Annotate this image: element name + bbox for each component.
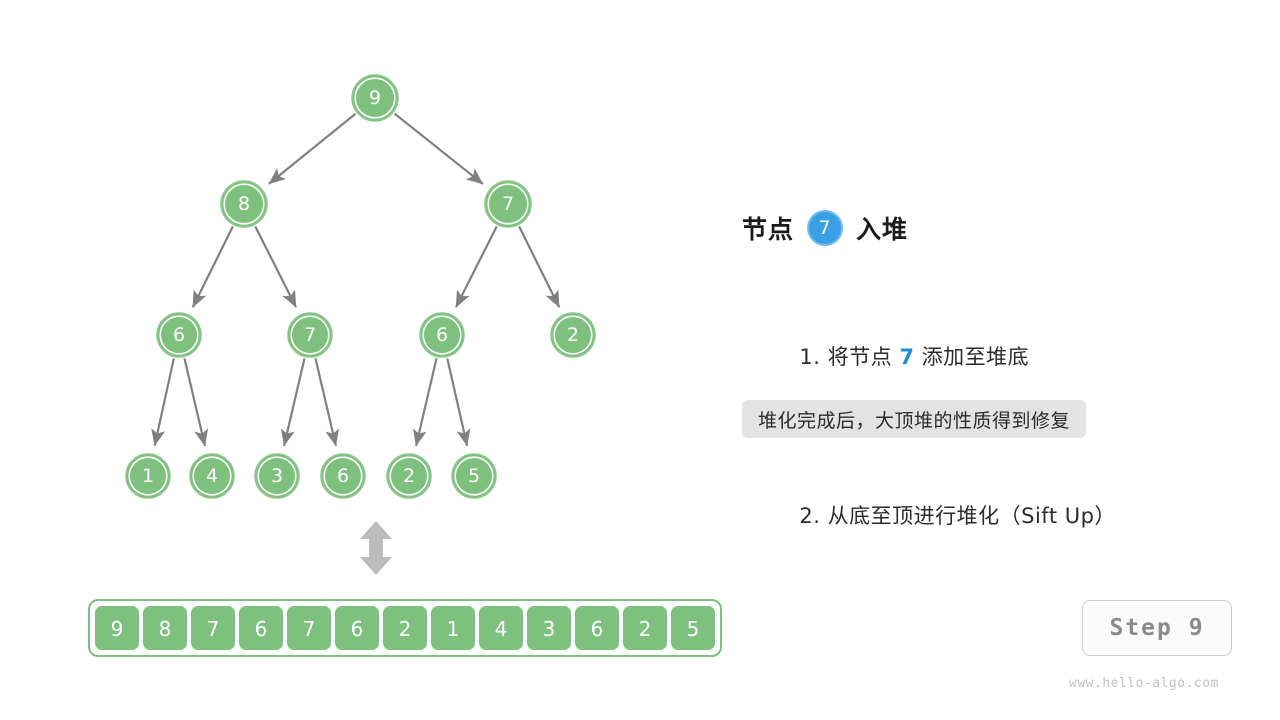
tree-edge [269, 114, 356, 184]
tree-node-value: 6 [436, 324, 448, 346]
array-cell-value: 1 [447, 617, 460, 641]
tree-edge [519, 226, 559, 307]
tree-node[interactable]: 5 [452, 454, 496, 498]
note-box: 堆化完成后，大顶堆的性质得到修复 [742, 400, 1086, 438]
tree-edges [155, 114, 560, 446]
tree-edge [255, 226, 296, 307]
tree-node-value: 1 [142, 465, 154, 487]
tree-node-value: 3 [271, 465, 283, 487]
watermark: www.hello-algo.com [1069, 676, 1219, 691]
diagram-canvas: 9876762143625 9876762143625 节点 7 入堆 1. 将… [0, 0, 1280, 720]
array-cell[interactable]: 2 [622, 605, 668, 651]
step-1-highlight: 7 [899, 345, 914, 369]
step-badge: Step 9 [1082, 600, 1232, 656]
array-cell[interactable]: 7 [190, 605, 236, 651]
tree-edge [416, 358, 436, 445]
panel-title-suffix: 入堆 [856, 210, 908, 246]
tree-edge [284, 358, 304, 445]
double-vertical-arrow-shape [360, 521, 392, 575]
array-cell[interactable]: 4 [478, 605, 524, 651]
step-item-2: 2. 从底至顶进行堆化（Sift Up） [742, 437, 1202, 596]
array-cell-value: 6 [591, 617, 604, 641]
step-2-index: 2. [799, 504, 820, 528]
tree-node[interactable]: 7 [485, 181, 531, 227]
array-cell[interactable]: 9 [94, 605, 140, 651]
tree-node-value: 2 [403, 465, 415, 487]
tree-node[interactable]: 8 [221, 181, 267, 227]
tree-node[interactable]: 6 [321, 454, 365, 498]
array-cell-value: 7 [207, 617, 220, 641]
array-cell-value: 5 [687, 617, 700, 641]
tree-node-value: 5 [468, 465, 480, 487]
array-cell-value: 8 [159, 617, 172, 641]
tree-node-value: 6 [173, 324, 185, 346]
tree-node[interactable]: 6 [420, 313, 464, 357]
tree-nodes: 9876762143625 [126, 75, 595, 498]
step-1-pre: 将节点 [820, 345, 899, 369]
tree-node-value: 4 [206, 465, 218, 487]
array-cell[interactable]: 6 [238, 605, 284, 651]
tree-node[interactable]: 9 [352, 75, 398, 121]
array-cell-value: 6 [255, 617, 268, 641]
double-vertical-arrow-icon [360, 521, 392, 575]
array-cell[interactable]: 5 [670, 605, 716, 651]
tree-edge [395, 114, 483, 184]
array-cell-value: 7 [303, 617, 316, 641]
array-cell[interactable]: 6 [334, 605, 380, 651]
tree-edge [447, 358, 467, 445]
step-1-index: 1. [799, 345, 820, 369]
step-1-post: 添加至堆底 [914, 345, 1029, 369]
array-cell[interactable]: 3 [526, 605, 572, 651]
array-cell[interactable]: 2 [382, 605, 428, 651]
array-cell-value: 2 [399, 617, 412, 641]
array-cell-value: 2 [639, 617, 652, 641]
array-cell-value: 3 [543, 617, 556, 641]
array-cell[interactable]: 8 [142, 605, 188, 651]
tree-node-value: 2 [567, 324, 579, 346]
tree-node[interactable]: 3 [255, 454, 299, 498]
tree-node-value: 6 [337, 465, 349, 487]
tree-node[interactable]: 4 [190, 454, 234, 498]
tree-node-value: 7 [502, 193, 514, 215]
array-cell-value: 6 [351, 617, 364, 641]
step-2-pre: 从底至顶进行堆化（Sift Up） [820, 504, 1115, 528]
tree-node[interactable]: 6 [157, 313, 201, 357]
tree-edge [315, 358, 335, 445]
array-cell[interactable]: 6 [574, 605, 620, 651]
note-text: 堆化完成后，大顶堆的性质得到修复 [758, 406, 1070, 433]
array-representation: 9876762143625 [89, 600, 721, 656]
tree-node[interactable]: 2 [387, 454, 431, 498]
array-cell[interactable]: 7 [286, 605, 332, 651]
title-node-badge: 7 [807, 210, 843, 246]
tree-node-value: 7 [304, 324, 316, 346]
tree-node-value: 9 [369, 87, 381, 109]
array-cell[interactable]: 1 [430, 605, 476, 651]
tree-node[interactable]: 2 [551, 313, 595, 357]
tree-node[interactable]: 7 [288, 313, 332, 357]
tree-node[interactable]: 1 [126, 454, 170, 498]
panel-title: 节点 7 入堆 [742, 205, 1202, 251]
tree-edge [193, 226, 233, 307]
step-badge-label: Step 9 [1109, 615, 1204, 641]
tree-node-value: 8 [238, 193, 250, 215]
tree-edge [155, 358, 174, 445]
tree-edge [456, 226, 497, 307]
panel-title-prefix: 节点 [742, 210, 794, 246]
tree-edge [184, 358, 204, 445]
array-cell-value: 9 [111, 617, 124, 641]
array-cell-value: 4 [495, 617, 508, 641]
